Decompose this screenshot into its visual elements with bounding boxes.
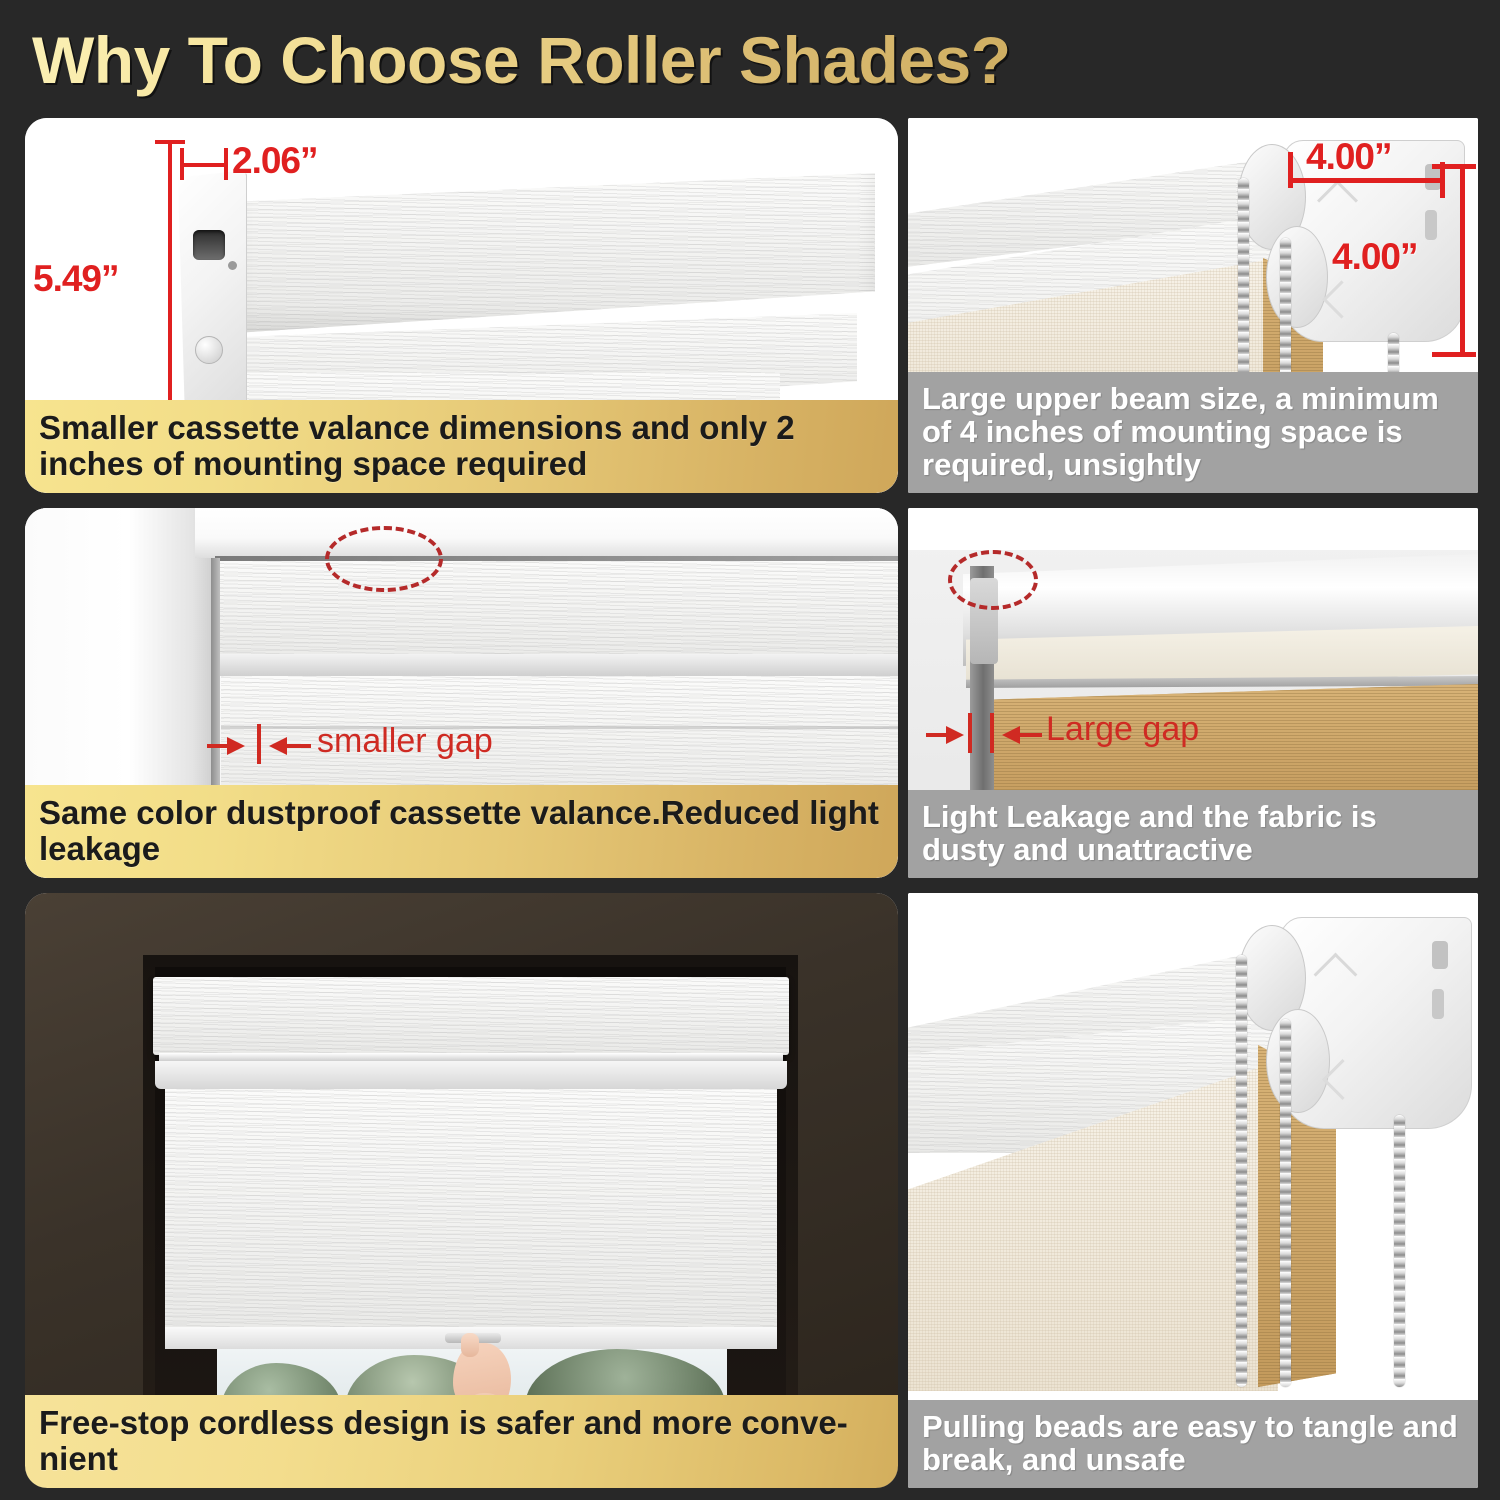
panel-free-stop-cordless: Free-stop cordless design is safer and m… bbox=[25, 893, 898, 1488]
width-dimension-line bbox=[183, 163, 227, 167]
bead-chain-right bbox=[1394, 1115, 1405, 1387]
gap-tick bbox=[257, 724, 261, 764]
bracket-pin-icon bbox=[228, 261, 237, 270]
cassette-valance bbox=[215, 560, 898, 668]
gap-arrow-right-stem bbox=[287, 744, 311, 748]
gap-arrow-right-icon bbox=[269, 737, 287, 755]
beam-width-dimension-label: 4.00” bbox=[1306, 136, 1392, 178]
bracket-slot2-icon bbox=[1425, 210, 1437, 240]
valance-bottom-edge bbox=[155, 1061, 787, 1089]
beam-height-dimension-label: 4.00” bbox=[1332, 236, 1418, 278]
panel-grid: 2.06” 5.49” Smaller cassette valance dim… bbox=[0, 110, 1500, 1500]
gap-arrow-left-stem bbox=[926, 733, 948, 737]
gap-column bbox=[211, 558, 220, 818]
panel-large-upper-beam: 4.00” 4.00” Large upper beam size, a min… bbox=[908, 118, 1478, 493]
height-dimension-label: 5.49” bbox=[33, 258, 119, 300]
window-frame-header bbox=[195, 508, 898, 558]
width-dimension-label: 2.06” bbox=[232, 140, 318, 182]
bracket-screw-icon bbox=[195, 336, 223, 364]
valance-edge-line bbox=[215, 556, 898, 561]
width-dimension-cap-right bbox=[224, 148, 228, 180]
large-gap-label: Large gap bbox=[1046, 710, 1199, 749]
valance-bottom-shadow bbox=[215, 654, 898, 676]
bead-chain-middle bbox=[1280, 1019, 1291, 1387]
width-dimension-cap-left bbox=[180, 148, 184, 180]
height-dimension-cap-top bbox=[155, 140, 185, 144]
panel-smaller-cassette-valance: 2.06” 5.49” Smaller cassette valance dim… bbox=[25, 118, 898, 493]
gap-arrow-left-icon bbox=[946, 726, 964, 744]
smaller-gap-label: smaller gap bbox=[317, 722, 493, 761]
page-title: Why To Choose Roller Shades? bbox=[32, 22, 1011, 98]
gap-arrow-right-stem bbox=[1020, 733, 1042, 737]
panel-caption-light-leakage: Light Leakage and the fabric is dusty an… bbox=[908, 790, 1478, 878]
bead-chain-left bbox=[1236, 955, 1247, 1387]
gap-arrow-right-icon bbox=[1002, 726, 1020, 744]
ceiling-strip bbox=[908, 508, 1478, 550]
beam-height-dimension-line bbox=[1460, 166, 1465, 356]
panel-caption-same-color-dustproof: Same color dustproof cassette valance.Re… bbox=[25, 785, 898, 878]
header: Why To Choose Roller Shades? bbox=[0, 0, 1500, 110]
bracket-slot-icon bbox=[193, 230, 225, 260]
panel-caption-free-stop-cordless: Free-stop cordless design is safer and m… bbox=[25, 1395, 898, 1488]
panel-caption-pulling-beads-unsafe: Pulling beads are easy to tangle and bre… bbox=[908, 1400, 1478, 1488]
beam-width-dimension-line bbox=[1290, 178, 1445, 183]
roller-end-cap-lower bbox=[1266, 226, 1328, 328]
shade-fabric bbox=[165, 1089, 777, 1341]
gap-arrow-left-stem bbox=[207, 744, 229, 748]
panel-caption-large-upper-beam: Large upper beam size, a minimum of 4 in… bbox=[908, 372, 1478, 493]
end-bracket bbox=[175, 170, 247, 422]
bracket-slot2-icon bbox=[1432, 989, 1444, 1019]
panel-light-leakage: Large gap Light Leakage and the fabric i… bbox=[908, 508, 1478, 878]
cassette-valance bbox=[153, 977, 789, 1055]
panel-caption-smaller-cassette-valance: Smaller cassette valance dimensions and … bbox=[25, 400, 898, 493]
beam-width-cap-left bbox=[1288, 152, 1293, 188]
highlight-ellipse bbox=[948, 550, 1038, 610]
roller-end-cap-lower bbox=[1266, 1009, 1330, 1113]
panel-pulling-beads-unsafe: Pulling beads are easy to tangle and bre… bbox=[908, 893, 1478, 1488]
bracket-notch-icon bbox=[1432, 941, 1448, 969]
panel-same-color-dustproof: smaller gap Same color dustproof cassett… bbox=[25, 508, 898, 878]
beam-height-cap-top bbox=[1432, 164, 1476, 169]
fingertip bbox=[461, 1333, 479, 1357]
highlight-ellipse bbox=[325, 526, 443, 592]
gap-arrow-left-icon bbox=[227, 737, 245, 755]
height-dimension-line bbox=[168, 142, 172, 422]
gap-tick-a bbox=[968, 713, 972, 753]
gap-tick-b bbox=[990, 713, 994, 753]
beam-height-cap-bottom bbox=[1432, 352, 1476, 357]
